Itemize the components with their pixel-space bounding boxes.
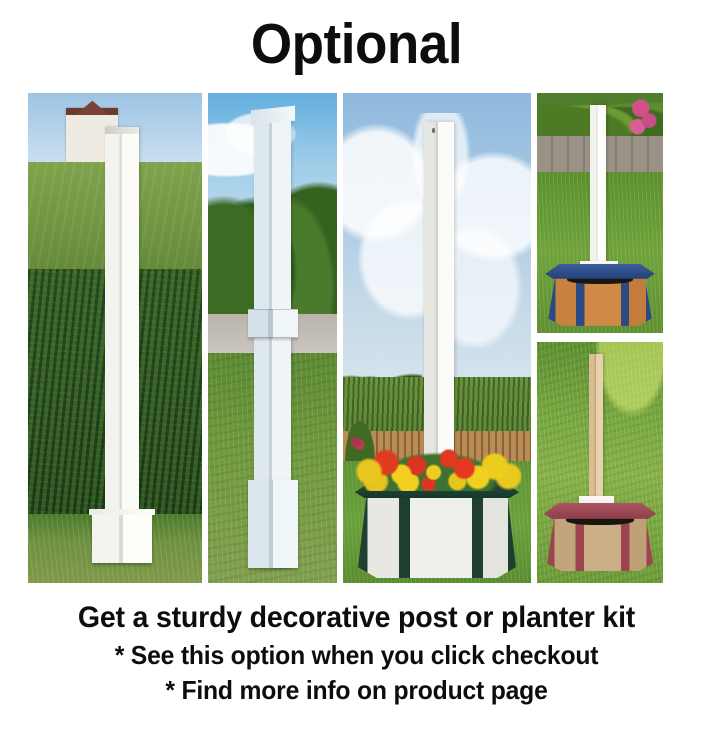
hexagon-planter [548, 259, 651, 326]
gallery-image-white-post-with-collar[interactable] [208, 93, 337, 583]
planter-body [358, 486, 516, 578]
post-base-trim [248, 480, 298, 568]
caption-line-checkout: * See this option when you click checkou… [18, 638, 695, 673]
page-title: Optional [25, 8, 688, 80]
photo-scene-flower-planter [343, 93, 531, 583]
caption-line-product-page: * Find more info on product page [18, 673, 695, 708]
photo-scene-blue-planter [537, 93, 663, 333]
flowers [352, 442, 523, 491]
caption-block: Get a sturdy decorative post or planter … [0, 598, 713, 708]
photo-scene-roadside [208, 93, 337, 583]
gallery-right-column [537, 93, 663, 583]
decorative-post [590, 105, 606, 273]
post-cap [105, 127, 140, 134]
pink-flowers [628, 95, 661, 138]
planter-rim [545, 264, 655, 279]
gallery-image-white-post-in-blue-tan-planter[interactable] [537, 93, 663, 333]
gallery-image-white-post-in-crop-field[interactable] [28, 93, 202, 583]
hexagon-planter [358, 461, 516, 579]
hexagon-planter [547, 499, 653, 571]
photo-scene-red-planter [537, 342, 663, 583]
gallery-image-tan-post-in-red-tan-planter[interactable] [537, 342, 663, 583]
decorative-post [589, 354, 603, 513]
gallery-image-post-with-white-hexagon-flower-planter[interactable] [343, 93, 531, 583]
post-base-trim [92, 514, 151, 563]
decorative-post [105, 127, 140, 548]
planter-rim [544, 503, 656, 519]
product-image-gallery [28, 93, 665, 583]
photo-scene-crop-field [28, 93, 202, 583]
post-collar-trim [248, 309, 298, 338]
caption-headline: Get a sturdy decorative post or planter … [18, 598, 695, 638]
